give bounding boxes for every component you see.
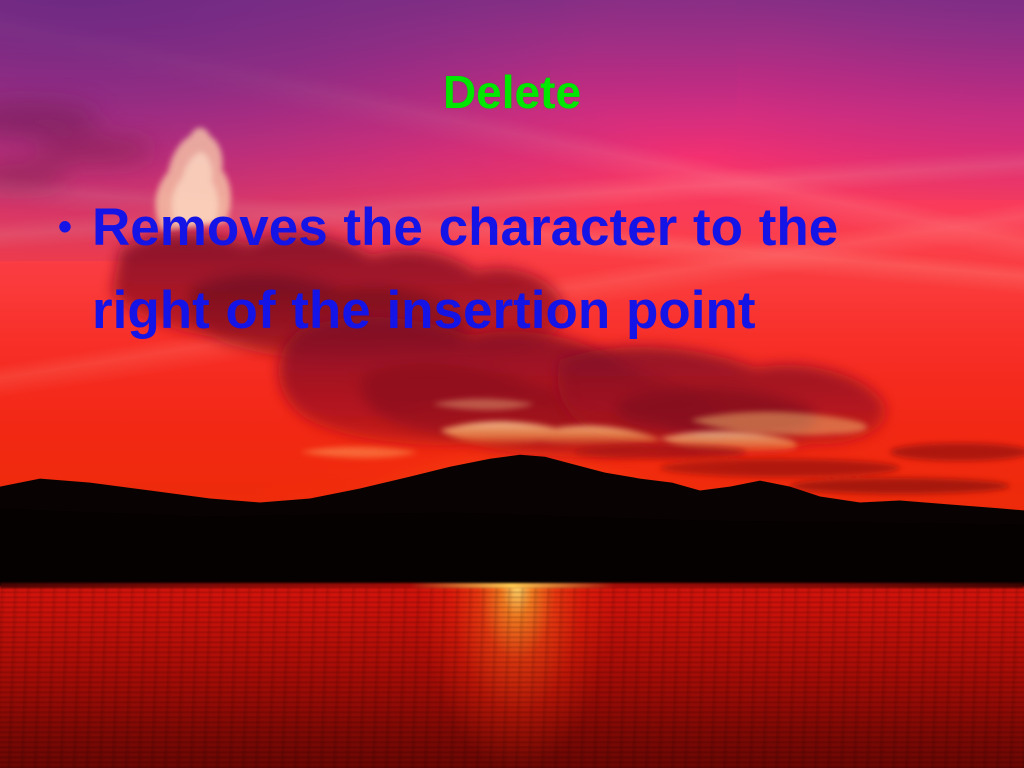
water-ripples — [0, 586, 1024, 768]
slide-canvas: Delete • Removes the character to the ri… — [0, 0, 1024, 768]
slide-body: • Removes the character to the right of … — [58, 186, 958, 352]
bullet-text: Removes the character to the right of th… — [92, 186, 934, 352]
bullet-point-icon: • — [58, 186, 92, 269]
water-shoreline — [0, 583, 1024, 588]
list-item: • Removes the character to the right of … — [58, 186, 958, 352]
slide-title: Delete — [0, 68, 1024, 116]
